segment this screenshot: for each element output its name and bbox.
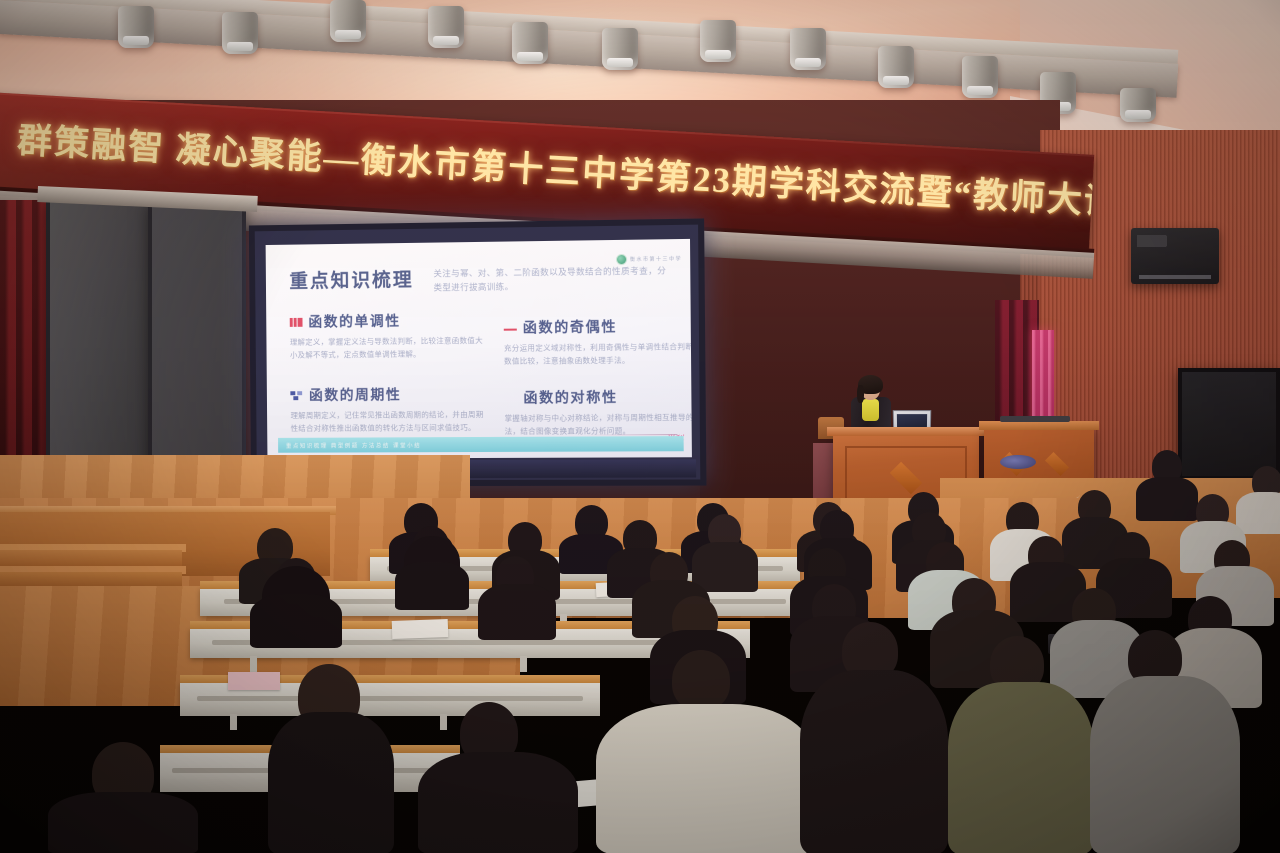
- slide-section: 函数的周期性 理解周期定义，记住常见推出函数周期的结论，并由周期性结合对称性推出…: [290, 384, 484, 436]
- spotlight-icon: [330, 0, 366, 42]
- slide-section-body: 理解定义，掌握定义法与导数法判断，比较注意函数值大小及解不等式，定点数值单调性理…: [290, 335, 484, 362]
- spotlight-icon: [118, 6, 154, 48]
- spotlight-icon: [428, 6, 464, 48]
- audience-torso: [1236, 492, 1280, 534]
- slide-section-title: 函数的单调性: [308, 311, 400, 332]
- slide-section-head: 函数的周期性: [290, 384, 484, 405]
- audience-torso: [1136, 477, 1198, 521]
- slide-lead-text: 关注与幂、对、第、二阶函数以及导数结合的性质考查，分类型进行拔高训练。: [433, 263, 675, 294]
- desk-leg: [230, 714, 237, 730]
- school-logo-text: 衡水市第十三中学: [630, 255, 682, 263]
- triangles-icon: [504, 393, 517, 402]
- dash-icon: [504, 328, 517, 330]
- squares-icon: [290, 391, 303, 400]
- desk-leg: [250, 656, 257, 672]
- spotlight-icon: [962, 56, 998, 98]
- slide-section-title: 函数的奇偶性: [523, 316, 618, 337]
- slide-title: 重点知识梳理: [289, 265, 413, 293]
- slide-section: 函数的奇偶性 充分运用定义域对称性，利用奇偶性与单调性结合判断函数值比较，注意抽…: [504, 316, 692, 369]
- audience-torso: [395, 562, 469, 610]
- notebook: [392, 619, 449, 639]
- spotlight-icon: [602, 28, 638, 70]
- floor-marker-disc: [1000, 455, 1036, 469]
- slide-section-title: 函数的对称性: [523, 387, 618, 408]
- spotlight-icon: [1120, 88, 1156, 122]
- slide-section: 函数的单调性 理解定义，掌握定义法与导数法判断，比较注意函数值大小及解不等式，定…: [290, 310, 484, 362]
- spotlight-icon: [700, 20, 736, 62]
- desk-rail: [197, 696, 583, 701]
- audience-head: [672, 650, 730, 710]
- stage-step: [0, 550, 182, 566]
- slide-footer-text: 重点知识梳理 典型例题 方法总结 课堂小结: [286, 441, 421, 450]
- spotlight-icon: [878, 46, 914, 88]
- stage-side-table-top: [979, 421, 1099, 430]
- slide-section-title: 函数的周期性: [309, 385, 401, 405]
- presenter-hair-side: [857, 385, 864, 403]
- equipment-on-side-table: [1000, 416, 1070, 422]
- school-logo: 衡水市第十三中学: [616, 253, 682, 265]
- audience-torso: [800, 670, 948, 853]
- slide-section-head: 函数的奇偶性: [504, 316, 692, 338]
- desk-leg: [520, 656, 527, 672]
- desk-leg: [440, 714, 447, 730]
- audience-torso: [948, 682, 1094, 853]
- slide-section-body: 理解周期定义，记住常见推出函数周期的结论，并由周期性结合对称性推出函数值的转化方…: [291, 409, 485, 436]
- audience-torso: [478, 584, 556, 640]
- presentation-slide: 重点知识梳理 关注与幂、对、第、二阶函数以及导数结合的性质考查，分类型进行拔高训…: [266, 239, 692, 459]
- slide-section-body: 充分运用定义域对称性，利用奇偶性与单调性结合判断函数值比较，注意抽象函数处理手法…: [504, 341, 692, 369]
- audience-torso: [418, 752, 578, 853]
- wall-speaker-icon: [1131, 228, 1219, 284]
- spotlight-icon: [790, 28, 826, 70]
- logo-badge-icon: [616, 254, 627, 265]
- spotlight-icon: [512, 22, 548, 64]
- notebook: [228, 672, 280, 690]
- audience-torso: [250, 594, 342, 648]
- audience-torso: [48, 792, 198, 853]
- side-display-screen[interactable]: [1178, 368, 1280, 480]
- slide-section-head: 函数的对称性: [504, 386, 692, 407]
- audience-torso: [596, 704, 816, 853]
- audience-torso: [1090, 676, 1240, 853]
- podium-top: [827, 427, 985, 436]
- audience-torso: [692, 542, 758, 592]
- table-diamond-inlay: [1045, 452, 1069, 476]
- slide-section: 函数的对称性 掌握轴对称与中心对称结论，对称与周期性相互推导的方法，结合图像变换…: [504, 386, 692, 438]
- projection-screen[interactable]: 重点知识梳理 关注与幂、对、第、二阶函数以及导数结合的性质考查，分类型进行拔高训…: [249, 218, 707, 486]
- slide-section-head: 函数的单调性: [290, 310, 484, 332]
- spotlight-icon: [222, 12, 258, 54]
- audience-torso: [268, 712, 394, 853]
- presenter-scarf: [862, 399, 879, 421]
- slide-footer-bar: 重点知识梳理 典型例题 方法总结 课堂小结: [278, 436, 684, 453]
- bars-icon: [290, 317, 303, 326]
- auditorium-scene: 群策融智 凝心聚能—衡水市第十三中学第23期学科交流暨“教师大讲堂” 重点知识梳…: [0, 0, 1280, 853]
